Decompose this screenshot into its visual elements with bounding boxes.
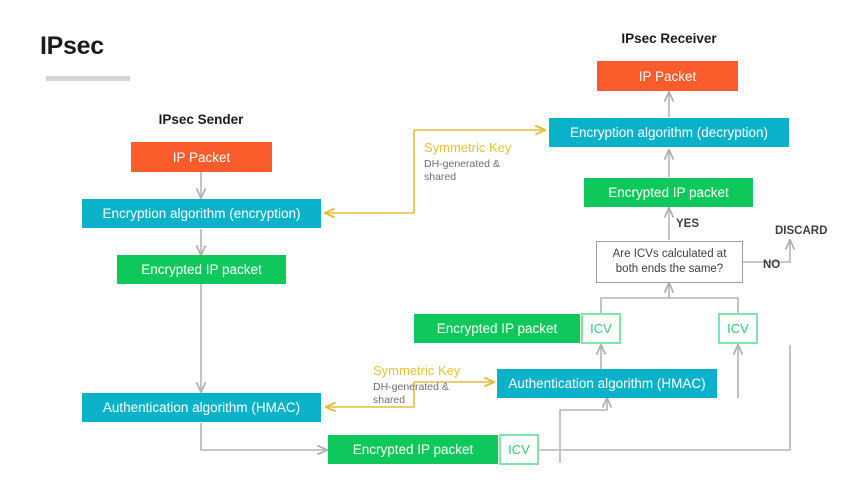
symmetric-key-top-group: Symmetric Key DH-generated & shared — [424, 140, 511, 184]
symmetric-key-bottom-sub-1: DH-generated & — [373, 381, 460, 394]
icv-box-bottom[interactable]: ICV — [499, 434, 539, 465]
sender-encrypted-packet-box[interactable]: Encrypted IP packet — [117, 255, 286, 284]
decision-line-1: Are ICVs calculated at — [613, 247, 727, 262]
wire-sender-auth-to-bottom-packet — [201, 423, 327, 450]
receiver-auth-box[interactable]: Authentication algorithm (HMAC) — [497, 369, 717, 398]
wire-bottom-packet-to-receiver-auth — [560, 398, 607, 463]
receiver-encrypted-packet-box[interactable]: Encrypted IP packet — [584, 178, 753, 207]
page-title: IPsec — [40, 32, 104, 61]
decision-box[interactable]: Are ICVs calculated at both ends the sam… — [596, 241, 743, 283]
symmetric-key-top-title: Symmetric Key — [424, 140, 511, 155]
receiver-decryption-box[interactable]: Encryption algorithm (decryption) — [549, 118, 789, 147]
decision-line-2: both ends the same? — [616, 262, 723, 277]
sender-auth-box[interactable]: Authentication algorithm (HMAC) — [82, 393, 321, 422]
wire-icv-pair-join — [601, 298, 738, 313]
wire-key-top-to-encryption — [325, 130, 414, 213]
label-no: NO — [763, 259, 780, 271]
diagram-canvas: IPsec IPsec Sender IP Packet Encryption … — [0, 0, 868, 488]
sender-encryption-box[interactable]: Encryption algorithm (encryption) — [82, 199, 321, 228]
symmetric-key-top-sub-2: shared — [424, 171, 511, 184]
symmetric-key-bottom-group: Symmetric Key DH-generated & shared — [373, 363, 460, 407]
label-yes: YES — [676, 218, 699, 230]
receiver-heading: IPsec Receiver — [579, 31, 759, 46]
sender-heading: IPsec Sender — [111, 112, 291, 127]
icv-box-middle[interactable]: ICV — [581, 313, 621, 344]
symmetric-key-top-sub-1: DH-generated & — [424, 158, 511, 171]
receiver-ip-packet-box[interactable]: IP Packet — [597, 61, 738, 91]
sender-ip-packet-box[interactable]: IP Packet — [131, 142, 272, 172]
middle-encrypted-packet-box[interactable]: Encrypted IP packet — [414, 314, 580, 343]
symmetric-key-bottom-sub-2: shared — [373, 394, 460, 407]
bottom-encrypted-packet-box[interactable]: Encrypted IP packet — [328, 435, 498, 464]
icv-box-right[interactable]: ICV — [718, 313, 758, 344]
label-discard: DISCARD — [775, 225, 827, 237]
symmetric-key-bottom-title: Symmetric Key — [373, 363, 460, 378]
title-underline-rule — [46, 76, 130, 81]
